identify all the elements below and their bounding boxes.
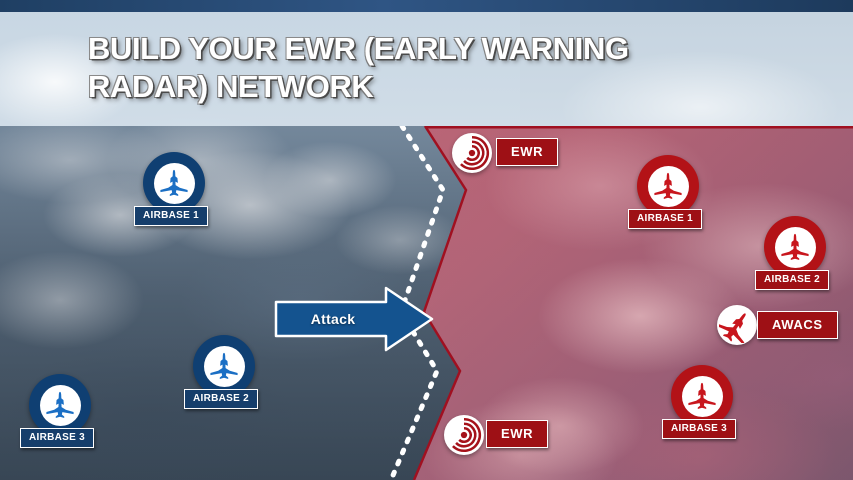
jet-icon (780, 232, 810, 262)
airbase-inner-circle (204, 346, 245, 387)
jet-icon (45, 390, 75, 420)
airbase-disc (143, 152, 205, 214)
jet-icon (653, 171, 683, 201)
ewr-label: EWR (496, 138, 558, 166)
slide-canvas: BUILD YOUR EWR (EARLY WARNING RADAR) NET… (0, 0, 853, 480)
jet-icon (209, 351, 239, 381)
enemy-airbase-2[interactable]: AIRBASE 2 (764, 216, 826, 278)
airbase-inner-circle (154, 163, 195, 204)
awacs-label: AWACS (757, 311, 838, 339)
attack-arrow-label: Attack (274, 285, 392, 353)
airbase-label: AIRBASE 1 (628, 209, 702, 229)
airbase-inner-circle (775, 227, 816, 268)
airbase-disc (671, 365, 733, 427)
enemy-airbase-1[interactable]: AIRBASE 1 (637, 155, 699, 217)
airbase-disc (29, 374, 91, 436)
friendly-airbase-2[interactable]: AIRBASE 2 (193, 335, 255, 397)
ewr-label: EWR (486, 420, 548, 448)
enemy-ewr-1[interactable]: EWR (452, 133, 492, 173)
airbase-label: AIRBASE 2 (184, 389, 258, 409)
jet-icon (159, 168, 189, 198)
jet-icon (687, 381, 717, 411)
airbase-inner-circle (40, 385, 81, 426)
airbase-label: AIRBASE 3 (20, 428, 94, 448)
airbase-label: AIRBASE 2 (755, 270, 829, 290)
enemy-airbase-3[interactable]: AIRBASE 3 (671, 365, 733, 427)
airbase-inner-circle (648, 166, 689, 207)
airbase-inner-circle (682, 376, 723, 417)
airbase-label: AIRBASE 3 (662, 419, 736, 439)
airbase-label: AIRBASE 1 (134, 206, 208, 226)
page-title: BUILD YOUR EWR (EARLY WARNING RADAR) NET… (88, 30, 728, 106)
radar-icon (444, 415, 484, 455)
attack-arrow[interactable]: Attack (274, 285, 434, 353)
awacs-plane-icon (717, 305, 757, 345)
radar-icon (452, 133, 492, 173)
top-accent-strip (0, 0, 853, 12)
airbase-disc (764, 216, 826, 278)
enemy-awacs[interactable]: AWACS (717, 305, 757, 345)
friendly-airbase-1[interactable]: AIRBASE 1 (143, 152, 205, 214)
friendly-airbase-3[interactable]: AIRBASE 3 (29, 374, 91, 436)
airbase-disc (193, 335, 255, 397)
enemy-ewr-2[interactable]: EWR (444, 415, 484, 455)
airbase-disc (637, 155, 699, 217)
